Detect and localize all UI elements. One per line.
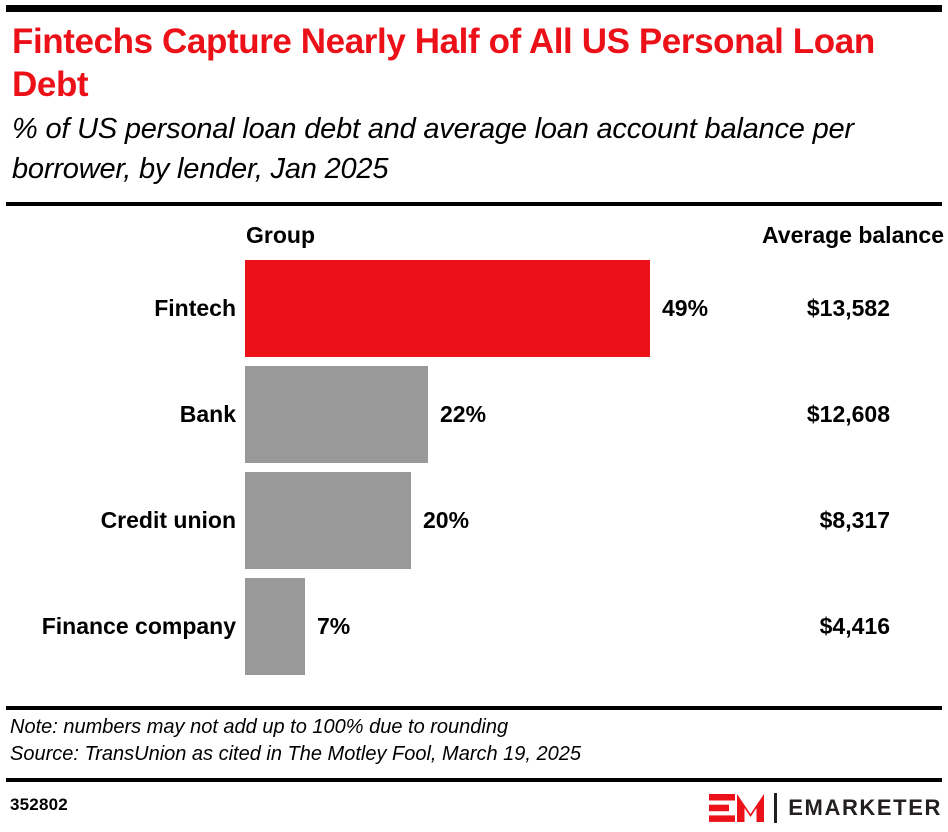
chart-row: Credit union20%$8,317 [0, 472, 948, 569]
chart-id: 352802 [10, 795, 68, 815]
chart-subtitle: % of US personal loan debt and average l… [12, 109, 932, 189]
bar-value-label: 49% [662, 260, 708, 357]
column-header-average-balance: Average balance [762, 222, 944, 249]
bar-value-label: 20% [423, 472, 469, 569]
logo-wordmark: EMARKETER [788, 795, 942, 821]
logo-divider [774, 793, 777, 823]
header-rule [6, 202, 942, 206]
bar [245, 472, 411, 569]
row-average-balance: $4,416 [820, 578, 890, 675]
bar [245, 260, 650, 357]
note-line: Note: numbers may not add up to 100% due… [10, 714, 581, 741]
row-average-balance: $12,608 [807, 366, 890, 463]
bar-value-label: 22% [440, 366, 486, 463]
row-average-balance: $8,317 [820, 472, 890, 569]
bar-value-label: 7% [317, 578, 350, 675]
column-header-group: Group [246, 222, 315, 249]
chart-notes: Note: numbers may not add up to 100% due… [10, 714, 581, 768]
row-average-balance: $13,582 [807, 260, 890, 357]
row-label: Credit union [0, 472, 236, 569]
footer-rule [6, 778, 942, 782]
emarketer-logo[interactable]: EMARKETER [709, 792, 942, 824]
chart-row: Fintech49%$13,582 [0, 260, 948, 357]
bar [245, 578, 305, 675]
chart-title: Fintechs Capture Nearly Half of All US P… [12, 20, 922, 106]
top-rule [6, 5, 942, 12]
bar [245, 366, 428, 463]
source-line: Source: TransUnion as cited in The Motle… [10, 741, 581, 768]
row-label: Fintech [0, 260, 236, 357]
notes-rule [6, 706, 942, 710]
chart-row: Bank22%$12,608 [0, 366, 948, 463]
row-label: Finance company [0, 578, 236, 675]
em-monogram-icon [709, 792, 765, 824]
chart-page: Fintechs Capture Nearly Half of All US P… [0, 0, 948, 832]
chart-row: Finance company7%$4,416 [0, 578, 948, 675]
row-label: Bank [0, 366, 236, 463]
bar-chart: Fintech49%$13,582Bank22%$12,608Credit un… [0, 260, 948, 684]
